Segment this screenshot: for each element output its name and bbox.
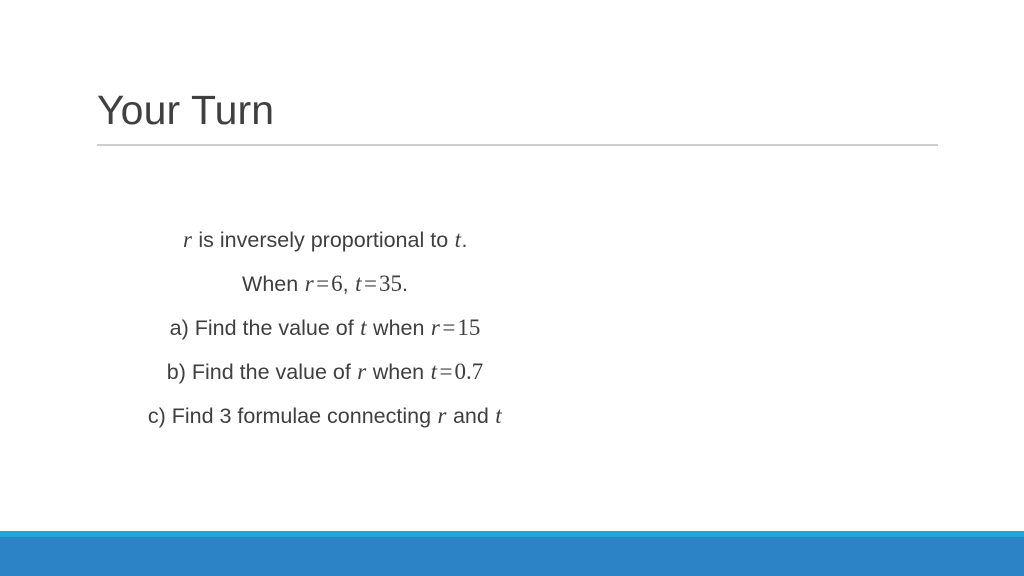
math-value-t: 0.7 — [454, 359, 483, 384]
title-divider — [97, 144, 938, 146]
math-equals-sign: = — [438, 359, 455, 384]
slide-canvas: Your Turn r is inversely proportional to… — [0, 0, 1024, 576]
math-value-t: 35 — [379, 271, 402, 296]
page-title: Your Turn — [97, 84, 938, 136]
math-equals-sign: = — [314, 271, 331, 296]
math-variable-t: t — [360, 315, 367, 340]
question-b-text: b) Find the value of — [167, 360, 357, 384]
question-b-when: when — [367, 360, 430, 384]
math-variable-r: r — [430, 315, 440, 340]
math-variable-t: t — [355, 271, 362, 296]
title-area: Your Turn — [97, 84, 938, 136]
footer-accent-band — [0, 537, 1024, 576]
given-period: . — [402, 272, 408, 296]
math-variable-t: t — [430, 359, 437, 384]
body-line-question-b: b) Find the value of r when t=0.7 — [60, 350, 590, 394]
given-separator: , — [343, 272, 355, 296]
statement-text: is inversely proportional to — [192, 228, 454, 252]
question-a-text: a) Find the value of — [170, 316, 360, 340]
body-line-question-a: a) Find the value of t when r=15 — [60, 306, 590, 350]
body-line-given-values: When r=6, t=35. — [60, 262, 590, 306]
math-equals-sign: = — [440, 315, 457, 340]
body-line-statement: r is inversely proportional to t. — [60, 218, 590, 262]
math-variable-t: t — [454, 227, 461, 252]
math-variable-r: r — [437, 403, 447, 428]
math-variable-r: r — [182, 227, 192, 252]
question-c-and: and — [447, 404, 495, 428]
math-variable-t: t — [495, 403, 502, 428]
math-value-r: 15 — [457, 315, 480, 340]
math-value-r: 6 — [331, 271, 343, 296]
question-a-when: when — [367, 316, 430, 340]
question-c-text: c) Find 3 formulae connecting — [148, 404, 437, 428]
statement-period: . — [462, 228, 468, 252]
body-line-question-c: c) Find 3 formulae connecting r and t — [60, 394, 590, 438]
given-when-label: When — [242, 272, 304, 296]
math-variable-r: r — [357, 359, 367, 384]
body-text-block: r is inversely proportional to t. When r… — [60, 218, 590, 438]
math-equals-sign: = — [362, 271, 379, 296]
math-variable-r: r — [304, 271, 314, 296]
